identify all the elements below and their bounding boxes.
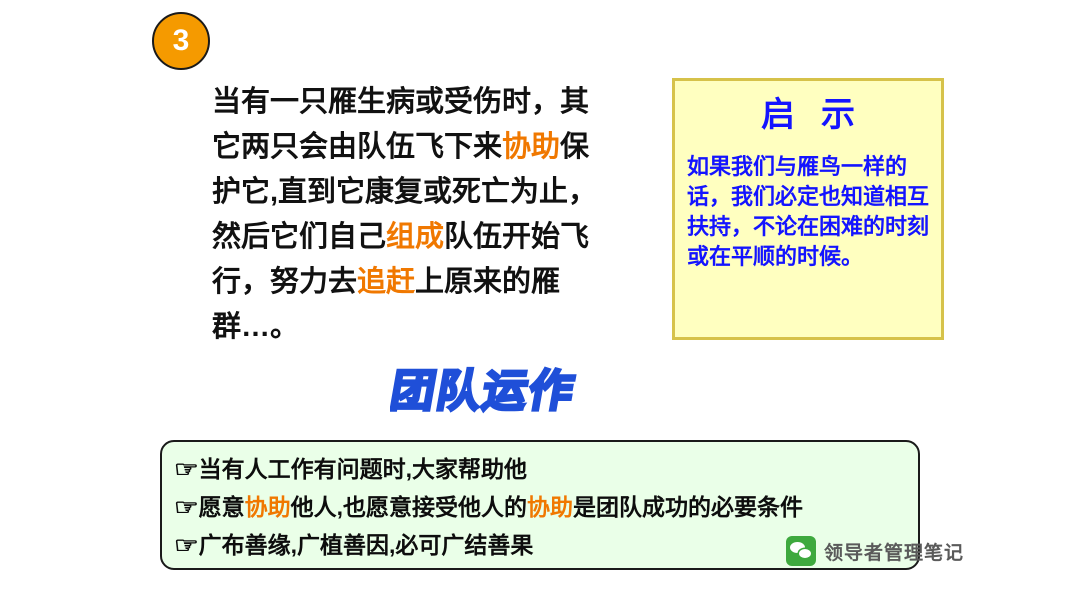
paragraph-segment-highlight: 追赶 <box>357 266 415 298</box>
main-paragraph: 当有一只雁生病或受伤时，其它两只会由队伍飞下来协助保护它,直到它康复或死亡为止，… <box>212 80 612 350</box>
list-item-text: 愿意 <box>199 488 245 526</box>
list-item-text: 当有人工作有问题时,大家帮助他 <box>199 450 527 488</box>
watermark: 领导者管理笔记 <box>786 536 964 566</box>
pointing-hand-icon: ☞ <box>174 526 199 564</box>
wordart-glyphs: 团队运作 <box>390 366 580 417</box>
paragraph-segment-highlight: 协助 <box>502 131 560 163</box>
list-item: ☞ 当有人工作有问题时,大家帮助他 <box>176 450 904 488</box>
list-item-text: 他人,也愿意接受他人的 <box>291 488 527 526</box>
pointing-hand-icon: ☞ <box>174 450 199 488</box>
pointing-hand-icon: ☞ <box>174 488 199 526</box>
paragraph-segment: 当有一只雁生病或受伤时， <box>212 86 560 118</box>
revelation-title: 启示 <box>675 95 941 136</box>
list-item-text: 是团队成功的必要条件 <box>573 488 803 526</box>
list-item-text-highlight: 协助 <box>245 488 291 526</box>
paragraph-segment-highlight: 组成 <box>386 221 444 253</box>
wechat-icon <box>786 536 816 566</box>
revelation-box: 启示 如果我们与雁鸟一样的话，我们必定也知道相互扶持，不论在困难的时刻或在平顺的… <box>672 78 944 340</box>
list-item: ☞ 愿意协助他人,也愿意接受他人的协助是团队成功的必要条件 <box>176 488 904 526</box>
slide-number-label: 3 <box>173 26 190 56</box>
revelation-body: 如果我们与雁鸟一样的话，我们必定也知道相互扶持，不论在困难的时刻或在平顺的时候。 <box>687 152 931 272</box>
wordart-title: 团队运作 <box>390 364 650 418</box>
list-item-text-highlight: 协助 <box>527 488 573 526</box>
list-item-text: 广布善缘,广植善因,必可广结善果 <box>199 526 534 564</box>
watermark-text: 领导者管理笔记 <box>824 538 964 565</box>
wordart-svg: 团队运作 <box>390 364 650 418</box>
slide-number-badge: 3 <box>152 12 210 70</box>
